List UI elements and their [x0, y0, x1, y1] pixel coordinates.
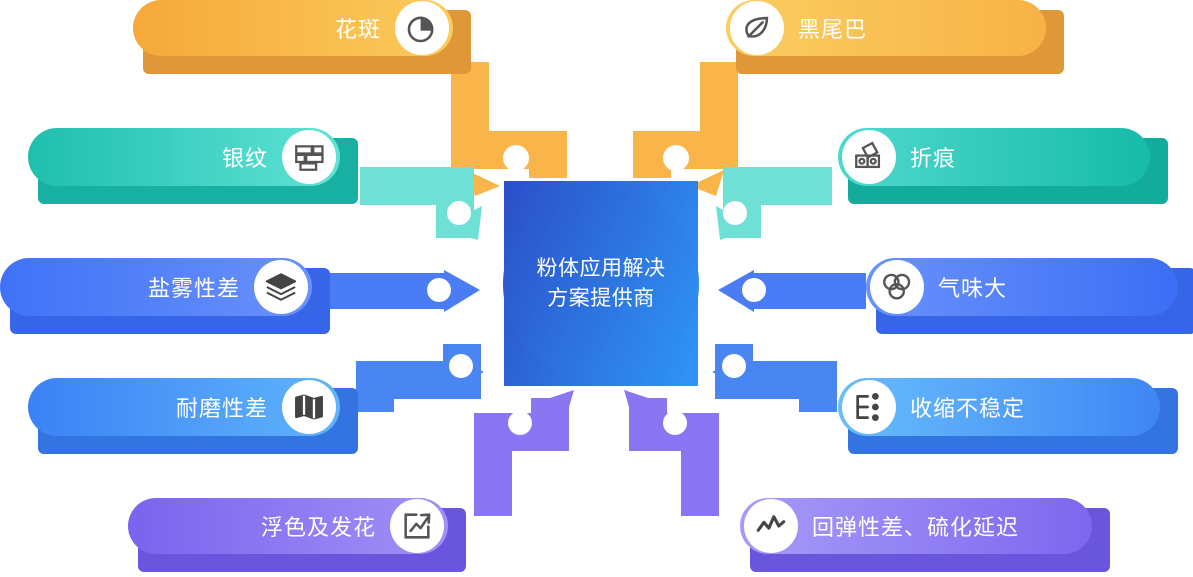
node-label: 收缩不稳定 [910, 391, 1025, 423]
node-label: 盐雾性差 [148, 271, 240, 303]
center-label: 粉体应用解决 方案提供商 [537, 254, 666, 314]
trend-box-icon [390, 499, 444, 553]
connector-shousuo [712, 344, 818, 412]
layers-icon [254, 260, 308, 314]
node-fuse[interactable]: 浮色及发花 [128, 498, 466, 576]
node-label: 银纹 [222, 141, 268, 173]
node-pill[interactable]: 耐磨性差 [28, 378, 340, 436]
puzzle-icon [842, 130, 896, 184]
node-qiwei[interactable]: 气味大 [866, 258, 1193, 338]
connector-naimo [375, 344, 484, 412]
sitemap-icon [842, 380, 896, 434]
node-yinwen[interactable]: 银纹 [28, 128, 358, 208]
connector-yinwen [360, 186, 482, 240]
center-node[interactable]: 粉体应用解决 方案提供商 [504, 181, 698, 386]
node-label: 浮色及发花 [261, 510, 376, 542]
connector-yanwu [330, 270, 480, 312]
connector-huaban [466, 62, 548, 196]
node-pill[interactable]: 浮色及发花 [128, 498, 448, 554]
node-naimo[interactable]: 耐磨性差 [28, 378, 358, 458]
connector-heiweiba [652, 62, 724, 196]
node-label: 花斑 [335, 12, 381, 44]
diagram-canvas: 粉体应用解决 方案提供商 花斑 黑尾巴 [0, 0, 1193, 577]
node-zhehen[interactable]: 折痕 [838, 128, 1168, 208]
node-label: 回弹性差、硫化延迟 [812, 510, 1019, 542]
node-pill[interactable]: 气味大 [866, 258, 1178, 316]
node-label: 黑尾巴 [798, 12, 867, 44]
node-shousuo[interactable]: 收缩不稳定 [838, 378, 1178, 458]
book-map-icon [282, 380, 336, 434]
recycle-icon [870, 260, 924, 314]
line-chart-icon [744, 499, 798, 553]
node-pill[interactable]: 回弹性差、硫化延迟 [740, 498, 1092, 554]
node-huaban[interactable]: 花斑 [133, 0, 471, 78]
leaf-icon [730, 1, 784, 55]
connector-fuse [493, 390, 574, 516]
node-heiweiba[interactable]: 黑尾巴 [726, 0, 1064, 78]
node-pill[interactable]: 盐雾性差 [0, 258, 312, 316]
pie-chart-icon [395, 1, 449, 55]
connector-qiwei [718, 270, 866, 312]
node-pill[interactable]: 收缩不稳定 [838, 378, 1160, 436]
node-pill[interactable]: 折痕 [838, 128, 1150, 186]
node-label: 耐磨性差 [176, 391, 268, 423]
node-pill[interactable]: 黑尾巴 [726, 0, 1046, 56]
node-label: 折痕 [910, 141, 956, 173]
node-yanwu[interactable]: 盐雾性差 [0, 258, 330, 338]
connector-zhehen [716, 186, 832, 240]
brick-wall-icon [282, 130, 336, 184]
connector-huitan [624, 390, 700, 516]
node-huitan[interactable]: 回弹性差、硫化延迟 [740, 498, 1110, 576]
node-label: 气味大 [938, 271, 1007, 303]
node-pill[interactable]: 银纹 [28, 128, 340, 186]
node-pill[interactable]: 花斑 [133, 0, 453, 56]
